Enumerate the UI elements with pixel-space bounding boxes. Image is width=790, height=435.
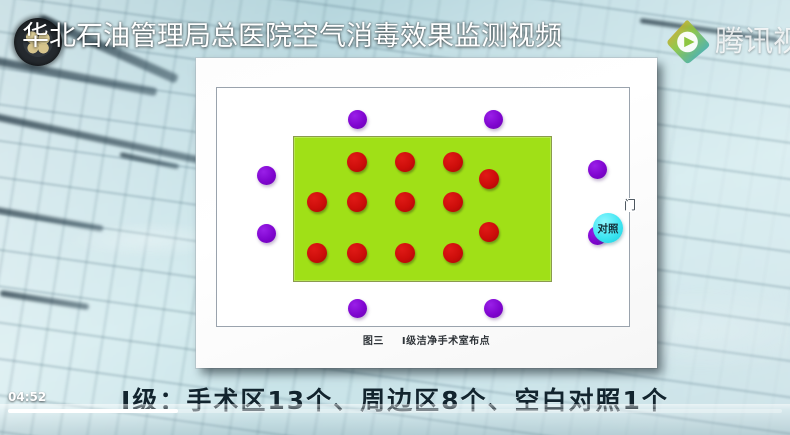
video-player: 华北石油管理局总医院空气消毒效果监测视频 腾讯视 xyxy=(0,0,790,435)
presentation-slide: 对照 门 图三Ⅰ级洁净手术室布点 xyxy=(196,58,657,368)
peripheral-sample-point xyxy=(348,110,367,129)
peripheral-sample-point xyxy=(257,166,276,185)
operating-zone-area xyxy=(293,136,552,282)
peripheral-sample-point xyxy=(257,224,276,243)
progress-bar-fill xyxy=(8,409,178,413)
operating-sample-point xyxy=(347,152,367,172)
operating-sample-point xyxy=(307,243,327,263)
operating-sample-point xyxy=(347,243,367,263)
operating-sample-point xyxy=(443,243,463,263)
peripheral-sample-point xyxy=(484,110,503,129)
progress-bar-track[interactable] xyxy=(8,409,782,413)
page-title: 华北石油管理局总医院空气消毒效果监测视频 xyxy=(22,20,562,54)
operating-sample-point xyxy=(395,152,415,172)
cleanroom-diagram-frame: 对照 门 xyxy=(216,87,630,327)
blank-control-label: 对照 xyxy=(598,223,619,233)
operating-sample-point xyxy=(479,222,499,242)
figure-caption: 图三Ⅰ级洁净手术室布点 xyxy=(196,335,657,348)
operating-sample-point xyxy=(395,243,415,263)
operating-sample-point xyxy=(479,169,499,189)
figure-title: Ⅰ级洁净手术室布点 xyxy=(402,336,490,347)
watermark-label: 腾讯视 xyxy=(715,24,790,58)
peripheral-sample-point xyxy=(588,160,607,179)
peripheral-sample-point xyxy=(484,299,503,318)
current-time-label: 04:52 xyxy=(8,390,46,404)
operating-sample-point xyxy=(443,152,463,172)
operating-sample-point xyxy=(347,192,367,212)
operating-sample-point xyxy=(307,192,327,212)
tencent-video-play-triangle-icon xyxy=(664,18,711,65)
operating-sample-point xyxy=(443,192,463,212)
door-label: 门 xyxy=(624,198,636,212)
blank-control-point: 对照 xyxy=(593,213,623,243)
figure-number: 图三 xyxy=(363,336,384,347)
peripheral-sample-point xyxy=(348,299,367,318)
watermark: 腾讯视 xyxy=(664,17,790,65)
operating-sample-point xyxy=(395,192,415,212)
